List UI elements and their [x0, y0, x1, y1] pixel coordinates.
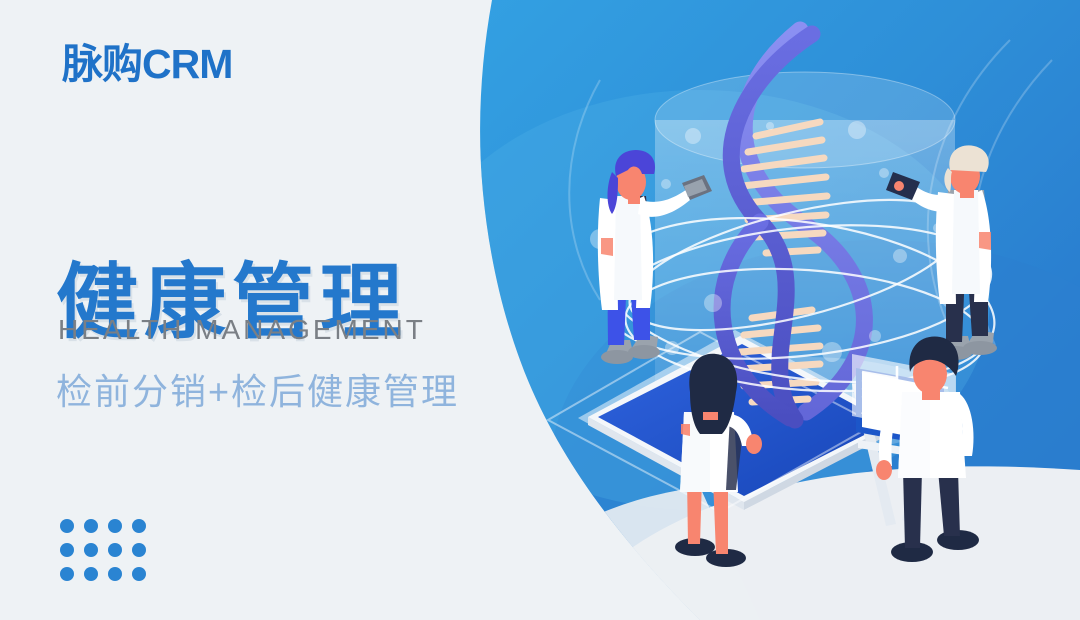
- dot: [132, 519, 146, 533]
- page-subtitle-chinese: 检前分销+检后健康管理: [56, 374, 459, 410]
- dot: [60, 567, 74, 581]
- dot: [84, 519, 98, 533]
- page-subtitle-english: HEALTH MANAGEMENT: [58, 316, 426, 344]
- dot-grid-decoration: [60, 519, 156, 591]
- dot: [108, 519, 122, 533]
- dot: [108, 567, 122, 581]
- dot: [84, 567, 98, 581]
- dot: [108, 543, 122, 557]
- health-management-banner: 脉购CRM 健康管理 HEALTH MANAGEMENT 检前分销+检后健康管理: [0, 0, 1080, 620]
- dot: [132, 543, 146, 557]
- dot: [84, 543, 98, 557]
- brand-logo[interactable]: 脉购CRM: [62, 44, 232, 85]
- dot: [132, 567, 146, 581]
- dot: [60, 519, 74, 533]
- dot: [60, 543, 74, 557]
